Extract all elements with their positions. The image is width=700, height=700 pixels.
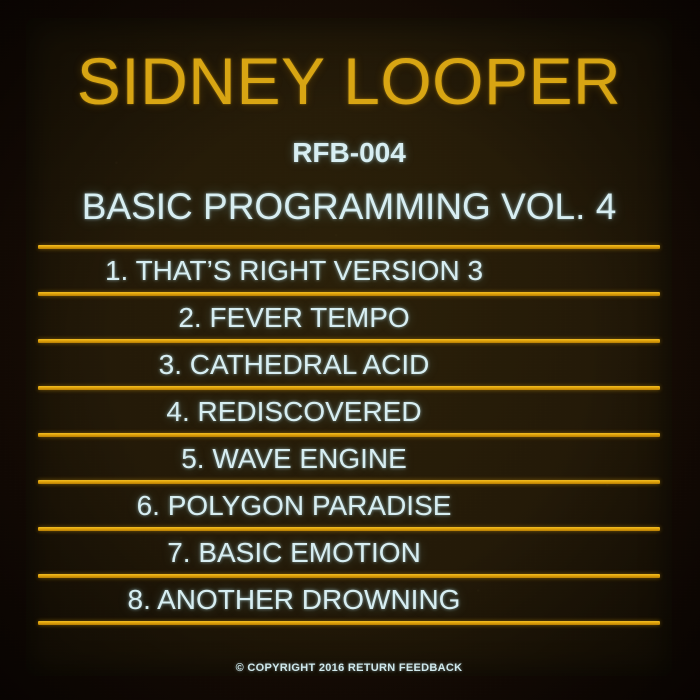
track-row: 6. POLYGON PARADISE: [38, 484, 660, 527]
track-row: 3. CATHEDRAL ACID: [38, 343, 660, 386]
track-label: 1. THAT’S RIGHT VERSION 3: [105, 254, 483, 288]
copyright-notice: © COPYRIGHT 2016 RETURN FEEDBACK: [26, 661, 672, 675]
track-label: 6. POLYGON PARADISE: [137, 489, 452, 523]
tracklist: 1. THAT’S RIGHT VERSION 3 2. FEVER TEMPO…: [38, 245, 660, 625]
catalog-number: RFB-004: [26, 136, 672, 170]
track-label: 3. CATHEDRAL ACID: [159, 348, 430, 382]
track-label: 8. ANOTHER DROWNING: [128, 583, 461, 617]
track-row: 2. FEVER TEMPO: [38, 296, 660, 339]
track-row: 1. THAT’S RIGHT VERSION 3: [38, 249, 660, 292]
track-label: 4. REDISCOVERED: [166, 395, 421, 429]
track-label: 7. BASIC EMOTION: [167, 536, 421, 570]
album-cover: SIDNEY LOOPER RFB-004 BASIC PROGRAMMING …: [0, 0, 700, 700]
track-label: 2. FEVER TEMPO: [178, 301, 409, 335]
cover-inner-panel: SIDNEY LOOPER RFB-004 BASIC PROGRAMMING …: [26, 18, 672, 676]
cover-content: SIDNEY LOOPER RFB-004 BASIC PROGRAMMING …: [26, 18, 672, 676]
track-row: 5. WAVE ENGINE: [38, 437, 660, 480]
track-row: 7. BASIC EMOTION: [38, 531, 660, 574]
track-row: 4. REDISCOVERED: [38, 390, 660, 433]
tracklist-divider: [38, 621, 660, 625]
album-title: BASIC PROGRAMMING VOL. 4: [26, 184, 672, 230]
track-label: 5. WAVE ENGINE: [181, 442, 407, 476]
track-row: 8. ANOTHER DROWNING: [38, 578, 660, 621]
artist-name: SIDNEY LOOPER: [26, 45, 672, 117]
